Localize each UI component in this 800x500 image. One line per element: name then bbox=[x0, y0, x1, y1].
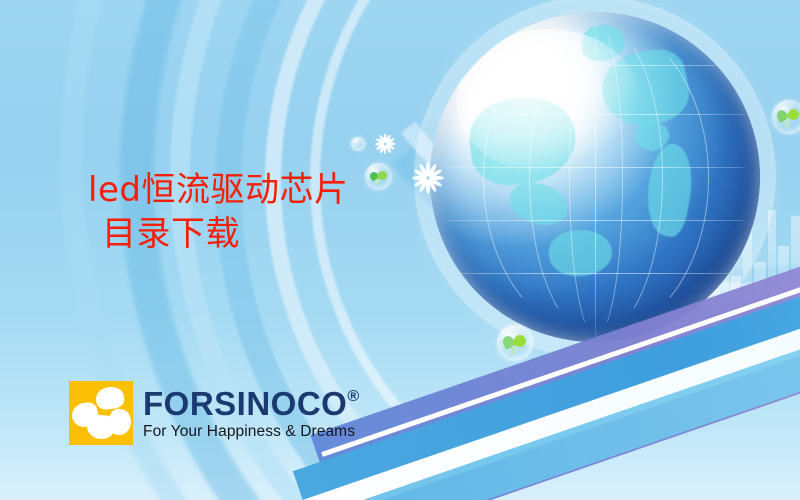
logo-wordmark: FORSINOCO ® bbox=[143, 387, 360, 420]
globe-sphere bbox=[430, 12, 760, 342]
bubble-small-top bbox=[351, 137, 365, 151]
promotional-banner: led恒流驱动芯片 目录下载 FORSINOCO ® For Your Happ… bbox=[0, 0, 800, 500]
globe-rim-light bbox=[430, 12, 760, 342]
flower-asterisk-small bbox=[375, 134, 395, 154]
bubble-eco-right bbox=[772, 100, 800, 134]
flower-asterisk-large bbox=[413, 163, 443, 193]
headline-line-1: led恒流驱动芯片 bbox=[88, 170, 348, 210]
bubble-eco-left bbox=[365, 163, 392, 190]
bubble-eco-center bbox=[497, 325, 533, 361]
headline-text: led恒流驱动芯片 目录下载 bbox=[88, 168, 348, 256]
logo-wordmark-text: FORSINOCO bbox=[143, 387, 347, 420]
headline-line-2: 目录下载 bbox=[102, 212, 348, 256]
registered-trademark-icon: ® bbox=[347, 389, 359, 405]
earth-globe bbox=[430, 12, 760, 342]
four-petal-flower-icon bbox=[69, 381, 133, 445]
logo-text-block: FORSINOCO ® For Your Happiness & Dreams bbox=[143, 387, 360, 440]
company-logo: FORSINOCO ® For Your Happiness & Dreams bbox=[69, 381, 360, 445]
logo-tagline: For Your Happiness & Dreams bbox=[143, 424, 360, 440]
